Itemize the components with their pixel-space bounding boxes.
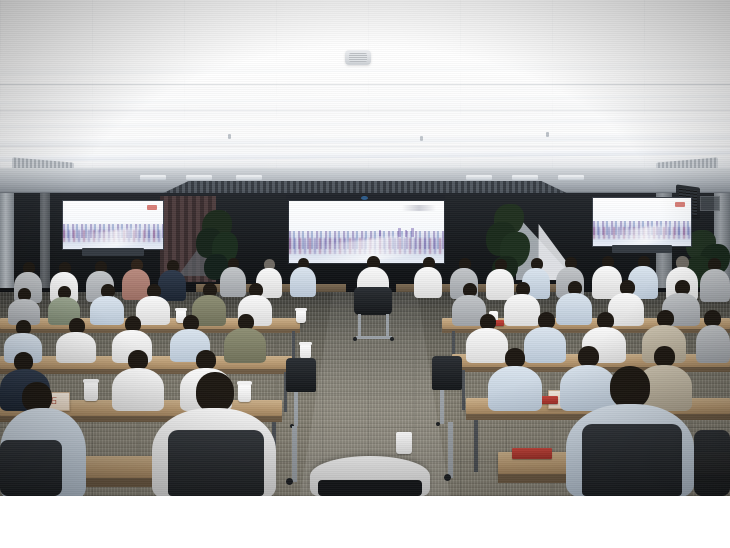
table-leg <box>462 370 465 410</box>
chair <box>582 424 682 496</box>
cup-lid <box>175 308 187 311</box>
display-content-cityscape <box>289 201 444 263</box>
chair-leg <box>448 422 453 478</box>
ceiling-seam <box>0 110 730 111</box>
air-vent <box>186 175 212 180</box>
cup-lid <box>295 308 307 311</box>
chair-leg <box>292 426 297 482</box>
conference-room-photo: 李子石 张建华 <box>0 0 730 496</box>
air-vent <box>512 175 538 180</box>
main-led-display[interactable] <box>288 200 445 264</box>
attendee <box>700 258 730 302</box>
left-auxiliary-display[interactable] <box>62 200 164 250</box>
torso <box>290 267 316 297</box>
highrise-building <box>398 228 401 237</box>
head <box>610 366 650 408</box>
ceiling-seam <box>0 84 730 85</box>
chair-leg <box>358 314 361 338</box>
chair <box>694 430 730 496</box>
head <box>196 350 216 370</box>
chair-caster <box>444 474 451 481</box>
ceiling-seam <box>0 146 730 147</box>
highrise-building <box>405 230 407 237</box>
left-display-mount <box>82 248 144 256</box>
torso <box>488 366 542 411</box>
letterbox-bottom <box>0 496 730 548</box>
chair-base <box>356 336 392 339</box>
screenshot-root: 李子石 张建华 <box>0 0 730 548</box>
chair <box>432 356 462 390</box>
attendee <box>414 257 442 299</box>
ceiling-speaker-icon <box>345 50 371 65</box>
sprinkler-head <box>546 132 549 137</box>
attendee <box>488 348 542 410</box>
wall-pilaster <box>0 193 14 288</box>
torso <box>696 325 730 363</box>
red-booklet <box>512 448 552 459</box>
tea-cup <box>296 310 306 323</box>
head <box>578 346 599 367</box>
torso <box>700 269 730 302</box>
attendee <box>696 310 730 362</box>
head <box>128 350 148 370</box>
display-watermark-logo <box>402 205 436 211</box>
head <box>196 372 234 412</box>
chair-leg <box>386 314 389 338</box>
torso <box>414 267 442 298</box>
table-leg <box>474 420 478 472</box>
right-auxiliary-display[interactable] <box>592 197 692 247</box>
air-vent <box>236 175 262 180</box>
display-logo-icon <box>147 205 157 210</box>
head <box>654 346 675 367</box>
attendee <box>8 288 40 324</box>
cup-lid <box>299 342 312 345</box>
attendee <box>56 318 96 362</box>
table-leg <box>292 331 295 361</box>
right-display-mount <box>612 245 672 253</box>
display-content-cityscape <box>63 201 163 249</box>
attendee <box>290 258 316 298</box>
chair <box>168 430 264 496</box>
highrise-building <box>379 230 381 236</box>
air-vent <box>140 175 166 180</box>
chair-leg <box>440 390 444 424</box>
tea-cup <box>396 432 412 454</box>
chair <box>354 287 392 315</box>
sprinkler-head <box>420 136 423 141</box>
tea-cup <box>84 382 98 401</box>
chair-leg <box>294 392 298 426</box>
tea-cup <box>300 344 311 359</box>
air-vent <box>558 175 584 180</box>
torso <box>56 332 96 363</box>
sprinkler-head <box>228 134 231 139</box>
chair <box>0 440 62 496</box>
wall-sign <box>700 196 720 211</box>
chair-caster <box>390 337 394 341</box>
highrise-building <box>411 228 414 237</box>
chair <box>286 358 316 392</box>
display-content-cityscape <box>593 198 691 246</box>
chair-seat <box>318 480 422 496</box>
head <box>505 348 525 368</box>
chair-caster <box>353 337 357 341</box>
chair-caster <box>436 422 440 426</box>
chair-caster <box>286 478 293 485</box>
air-vent <box>466 175 492 180</box>
display-logo-icon <box>675 202 685 207</box>
